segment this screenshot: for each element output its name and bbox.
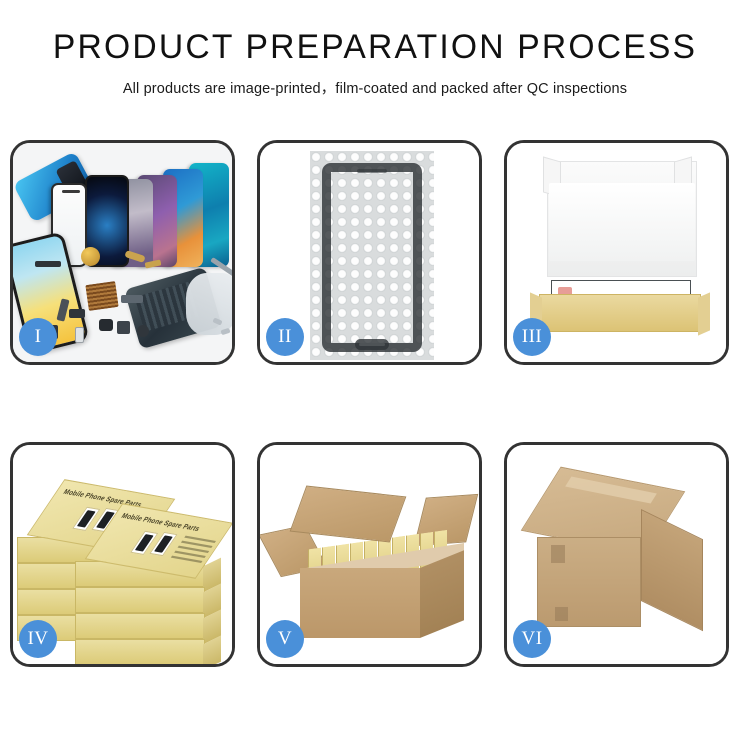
step-badge-6: VI [513, 620, 551, 658]
foam-insert [549, 183, 695, 261]
spare-part [69, 309, 85, 318]
step-badge-3: III [513, 318, 551, 356]
page-subtitle: All products are image-printed，film-coat… [0, 77, 750, 98]
step-badge-4: IV [19, 620, 57, 658]
process-step-panel-2: II [257, 140, 482, 365]
step-badge-1: I [19, 318, 57, 356]
spare-part [117, 321, 130, 334]
process-step-grid: I II [10, 140, 740, 667]
box-label-text: Mobile Phone Spare Parts [120, 512, 202, 533]
spare-part [99, 319, 113, 331]
wrapped-screen-outline [322, 163, 422, 352]
spare-part [75, 327, 84, 343]
carton-front-face [300, 568, 420, 638]
spare-part [137, 325, 149, 337]
process-step-panel-5: V [257, 442, 482, 667]
step-badge-2: II [266, 318, 304, 356]
process-step-panel-3: III [504, 140, 729, 365]
home-button [355, 339, 389, 350]
page-title: PRODUCT PREPARATION PROCESS [4, 30, 747, 66]
process-step-panel-1: I [10, 140, 235, 365]
spare-part [35, 261, 61, 267]
speaker-component [81, 247, 100, 266]
hand-holding-part [186, 273, 232, 335]
carton-seam-tab [555, 607, 568, 621]
bubble-wrap-sheet [310, 151, 434, 360]
carton-seam-tab [551, 545, 565, 563]
process-step-panel-4: Mobile Phone Spare Parts [10, 442, 235, 667]
earpiece-slot [357, 169, 387, 173]
spare-part [121, 295, 143, 303]
logic-board-chip [85, 281, 118, 311]
open-box-front-panel [539, 294, 701, 332]
product-preparation-infographic: PRODUCT PREPARATION PROCESS All products… [0, 0, 750, 750]
step-badge-5: V [266, 620, 304, 658]
process-step-panel-6: VI [504, 442, 729, 667]
phone-screen-fan [43, 157, 232, 267]
header: PRODUCT PREPARATION PROCESS All products… [0, 0, 750, 98]
